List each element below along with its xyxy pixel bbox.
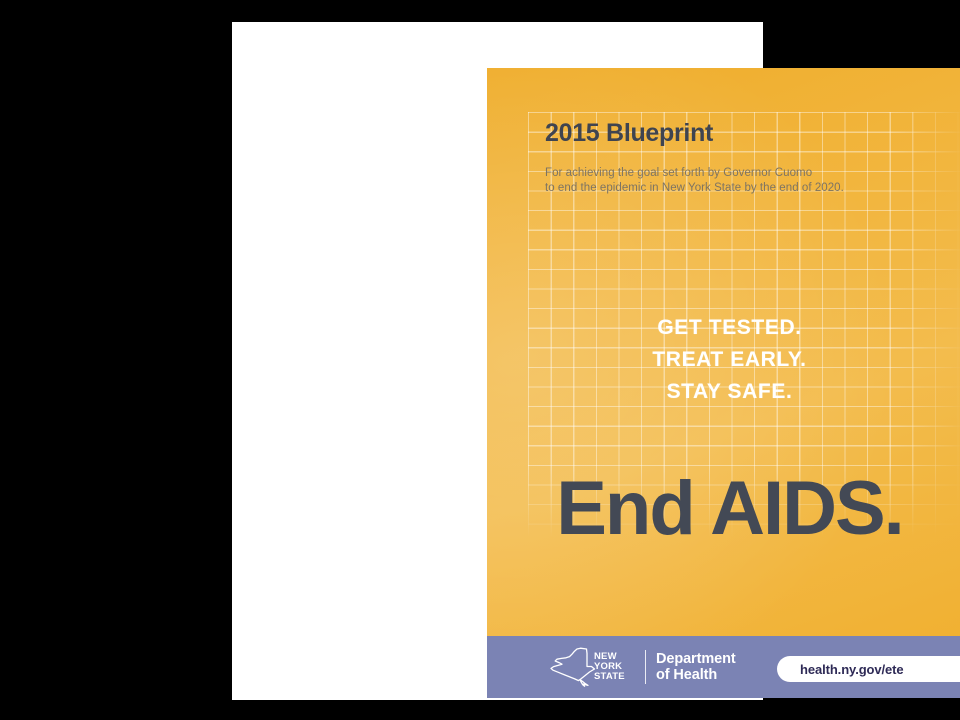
poster-paper-mat: 2015 Blueprint For achieving the goal se… <box>232 22 763 700</box>
website-url-text: health.ny.gov/ete <box>800 662 904 677</box>
poster-subtitle-line-1: For achieving the goal set forth by Gove… <box>545 166 945 182</box>
slogan-line-get-tested: GET TESTED. <box>487 312 960 344</box>
nysdoh-logo-lockup: NEW YORK STATE Department of Health <box>549 646 736 688</box>
website-url-pill[interactable]: health.ny.gov/ete <box>777 656 960 682</box>
agency-line-of-health: of Health <box>656 667 736 684</box>
state-mark-line-state: STATE <box>594 672 625 682</box>
poster-footer-bar: NEW YORK STATE Department of Health heal… <box>487 636 960 698</box>
poster-slogan: GET TESTED. TREAT EARLY. STAY SAFE. <box>487 312 960 408</box>
screenshot-canvas: 2015 Blueprint For achieving the goal se… <box>0 0 960 720</box>
poster-headline: End AIDS. <box>487 466 960 552</box>
slogan-line-stay-safe: STAY SAFE. <box>487 376 960 408</box>
poster-subtitle-line-2: to end the epidemic in New York State by… <box>545 181 945 197</box>
poster-header: 2015 Blueprint For achieving the goal se… <box>545 120 945 197</box>
slogan-line-treat-early: TREAT EARLY. <box>487 344 960 376</box>
poster-title: 2015 Blueprint <box>545 120 945 148</box>
end-aids-poster: 2015 Blueprint For achieving the goal se… <box>487 68 960 698</box>
department-of-health-wordmark: Department of Health <box>656 651 736 684</box>
new-york-state-wordmark: NEW YORK STATE <box>594 652 625 683</box>
new-york-state-mark: NEW YORK STATE <box>549 646 641 688</box>
poster-subtitle: For achieving the goal set forth by Gove… <box>545 166 945 197</box>
logo-divider <box>645 650 646 684</box>
agency-line-department: Department <box>656 651 736 668</box>
